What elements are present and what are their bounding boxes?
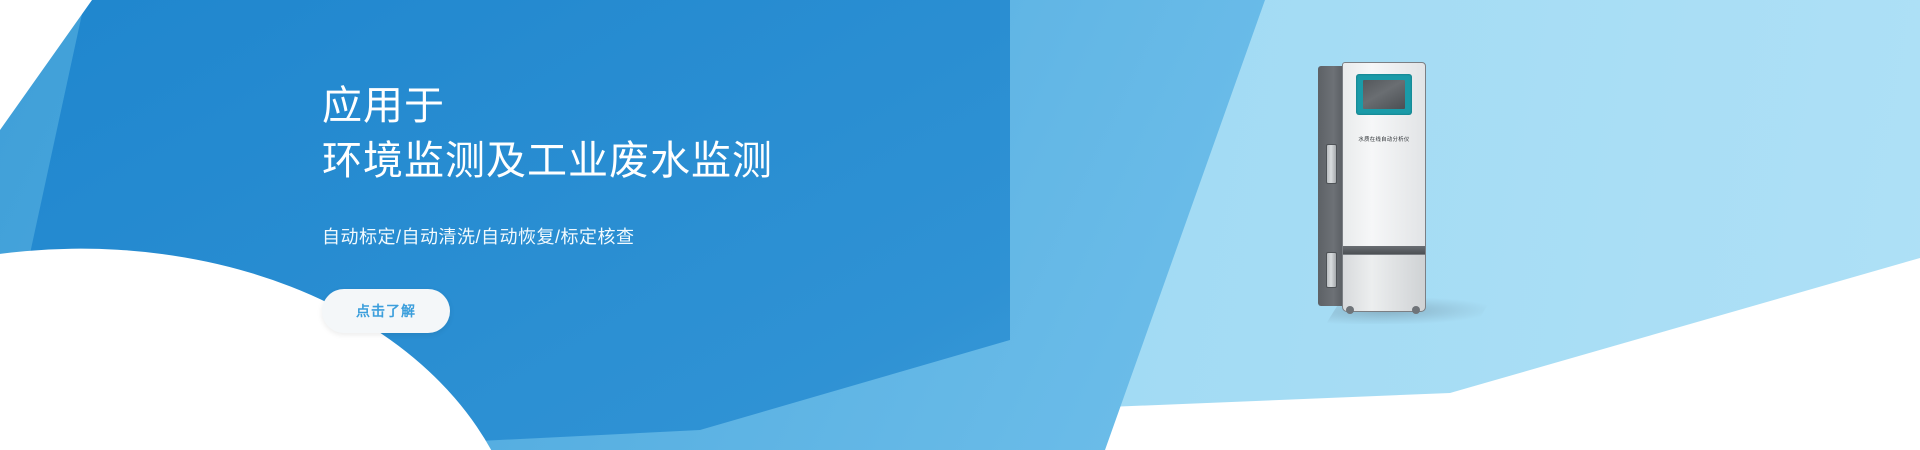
- device-upper-cabinet: 水质在线自动分析仪: [1342, 62, 1426, 248]
- device-screen-bezel: [1356, 74, 1412, 115]
- device-display-screen: [1363, 80, 1405, 109]
- device-side-panel: [1318, 66, 1344, 306]
- device-divider: [1342, 246, 1426, 254]
- hero-banner: 应用于 环境监测及工业废水监测 自动标定/自动清洗/自动恢复/标定核查 点击了解…: [0, 0, 1920, 450]
- hero-subtitle: 自动标定/自动清洗/自动恢复/标定核查: [322, 223, 1022, 249]
- hero-content: 应用于 环境监测及工业废水监测 自动标定/自动清洗/自动恢复/标定核查 点击了解: [322, 52, 1022, 333]
- headline-line-2: 环境监测及工业废水监测: [322, 134, 1022, 189]
- device-upper-handle-icon: [1326, 144, 1337, 184]
- device-wheel-left: [1346, 306, 1354, 314]
- device-wheel-right: [1412, 306, 1420, 314]
- hero-headline: 应用于 环境监测及工业废水监测: [322, 79, 1022, 189]
- water-quality-analyzer-image: 水质在线自动分析仪: [1318, 62, 1426, 310]
- device-lower-cabinet: [1342, 254, 1426, 312]
- headline-line-1: 应用于: [322, 79, 1022, 134]
- device-panel-label: 水质在线自动分析仪: [1343, 135, 1425, 143]
- device-lower-handle-icon: [1326, 252, 1337, 288]
- learn-more-button[interactable]: 点击了解: [322, 289, 450, 333]
